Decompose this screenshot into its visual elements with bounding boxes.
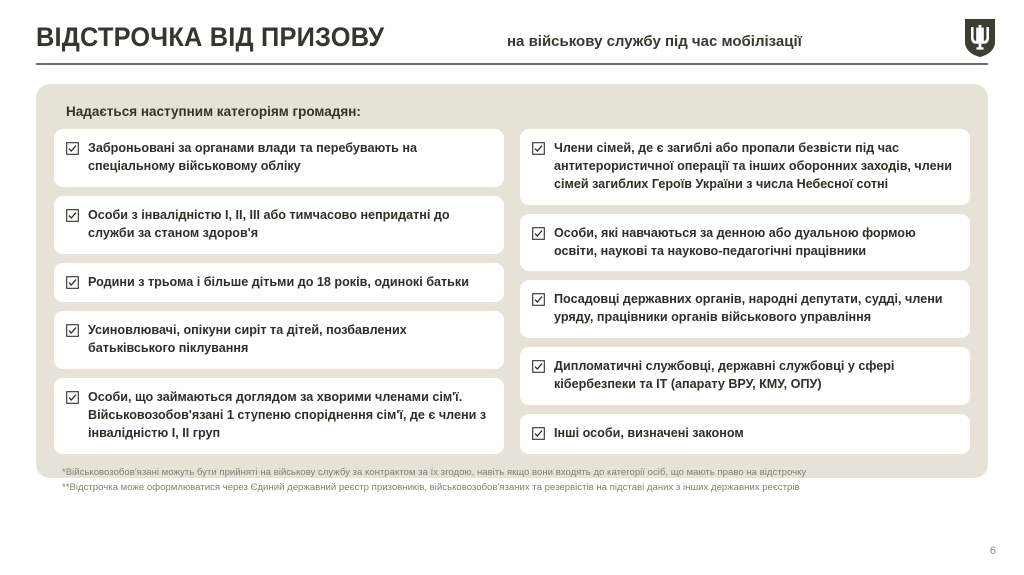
category-label: Дипломатичні службовці, державні службов… xyxy=(554,358,956,394)
checkbox-checked-icon xyxy=(532,427,545,440)
right-column: Члени сімей, де є загиблі або пропали бе… xyxy=(520,129,970,454)
footnote-double-asterisk: **Відстрочка може оформлюватися через Єд… xyxy=(62,481,970,496)
checkbox-checked-icon xyxy=(66,324,79,337)
category-label: Члени сімей, де є загиблі або пропали бе… xyxy=(554,140,956,194)
category-label: Посадовці державних органів, народні деп… xyxy=(554,291,956,327)
page-title: ВІДСТРОЧКА ВІД ПРИЗОВУ xyxy=(36,22,384,53)
category-label: Усиновлювачі, опікуни сиріт та дітей, по… xyxy=(88,322,490,358)
category-label: Інші особи, визначені законом xyxy=(554,425,744,443)
category-card[interactable]: Родини з трьома і більше дітьми до 18 ро… xyxy=(54,263,504,303)
category-label: Родини з трьома і більше дітьми до 18 ро… xyxy=(88,274,469,292)
category-card[interactable]: Заброньовані за органами влади та перебу… xyxy=(54,129,504,187)
ukraine-trident-shield-icon xyxy=(964,18,996,58)
category-card[interactable]: Усиновлювачі, опікуни сиріт та дітей, по… xyxy=(54,311,504,369)
header-divider xyxy=(36,63,988,65)
panel-heading: Надається наступним категоріям громадян: xyxy=(66,104,970,119)
checkbox-checked-icon xyxy=(66,209,79,222)
category-card[interactable]: Посадовці державних органів, народні деп… xyxy=(520,280,970,338)
checkbox-checked-icon xyxy=(66,391,79,404)
checkbox-checked-icon xyxy=(532,142,545,155)
categories-columns: Заброньовані за органами влади та перебу… xyxy=(54,129,970,454)
category-label: Особи з інвалідністю I, II, III або тимч… xyxy=(88,207,490,243)
category-card[interactable]: Члени сімей, де є загиблі або пропали бе… xyxy=(520,129,970,205)
checkbox-checked-icon xyxy=(532,227,545,240)
page-header: ВІДСТРОЧКА ВІД ПРИЗОВУ на військову служ… xyxy=(0,0,1024,72)
checkbox-checked-icon xyxy=(532,360,545,373)
footnote-single-asterisk: *Військовозобов'язані можуть бути прийня… xyxy=(62,466,970,481)
left-column: Заброньовані за органами влади та перебу… xyxy=(54,129,504,454)
page-number: 6 xyxy=(990,545,996,557)
category-card[interactable]: Інші особи, визначені законом xyxy=(520,414,970,454)
checkbox-checked-icon xyxy=(532,293,545,306)
category-card[interactable]: Особи, які навчаються за денною або дуал… xyxy=(520,214,970,272)
category-label: Особи, які навчаються за денною або дуал… xyxy=(554,225,956,261)
category-card[interactable]: Особи, що займаються доглядом за хворими… xyxy=(54,378,504,454)
category-label: Заброньовані за органами влади та перебу… xyxy=(88,140,490,176)
footnotes: *Військовозобов'язані можуть бути прийня… xyxy=(62,466,970,496)
checkbox-checked-icon xyxy=(66,276,79,289)
category-label: Особи, що займаються доглядом за хворими… xyxy=(88,389,490,443)
checkbox-checked-icon xyxy=(66,142,79,155)
page-subtitle: на військову службу під час мобілізації xyxy=(507,33,802,50)
category-card[interactable]: Дипломатичні службовці, державні службов… xyxy=(520,347,970,405)
category-card[interactable]: Особи з інвалідністю I, II, III або тимч… xyxy=(54,196,504,254)
categories-panel: Надається наступним категоріям громадян:… xyxy=(36,84,988,478)
